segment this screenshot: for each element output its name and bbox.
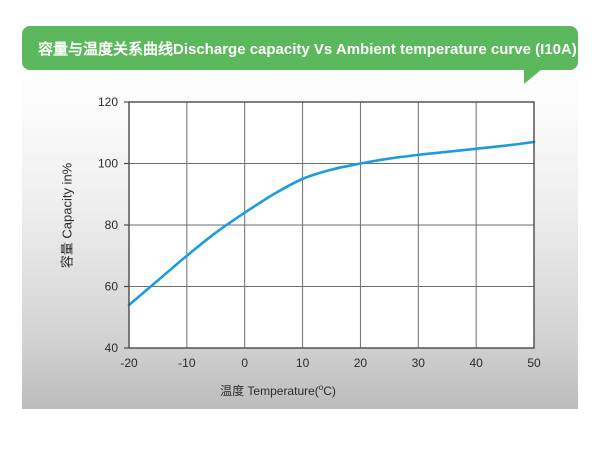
chart-canvas: 容量与温度关系曲线Discharge capacity Vs Ambient t… <box>0 0 600 451</box>
x-tick-label: 0 <box>241 356 248 370</box>
y-tick-label: 80 <box>105 218 119 232</box>
x-tick-label: -10 <box>178 356 196 370</box>
x-tick-label: 30 <box>412 356 426 370</box>
y-tick-label: 60 <box>105 280 119 294</box>
y-tick-label: 40 <box>105 341 119 355</box>
capacity-temperature-plot: 406080100120-20-1001020304050 <box>22 78 578 408</box>
chart-title: 容量与温度关系曲线Discharge capacity Vs Ambient t… <box>38 38 577 59</box>
x-tick-label: 20 <box>354 356 368 370</box>
y-tick-label: 120 <box>98 95 118 109</box>
y-tick-label: 100 <box>98 157 118 171</box>
chart-area: 406080100120-20-1001020304050 容量 Capacit… <box>22 78 578 408</box>
x-axis-title: 温度 Temperature(oC) <box>22 382 534 399</box>
x-axis-title-end: C) <box>323 384 336 398</box>
x-axis-title-en: Temperature( <box>247 384 318 398</box>
x-tick-label: 10 <box>296 356 310 370</box>
title-banner: 容量与温度关系曲线Discharge capacity Vs Ambient t… <box>22 26 578 70</box>
x-axis-title-cn: 温度 <box>220 384 247 398</box>
x-tick-label: 50 <box>527 356 541 370</box>
x-tick-label: -20 <box>120 356 138 370</box>
x-tick-label: 40 <box>469 356 483 370</box>
